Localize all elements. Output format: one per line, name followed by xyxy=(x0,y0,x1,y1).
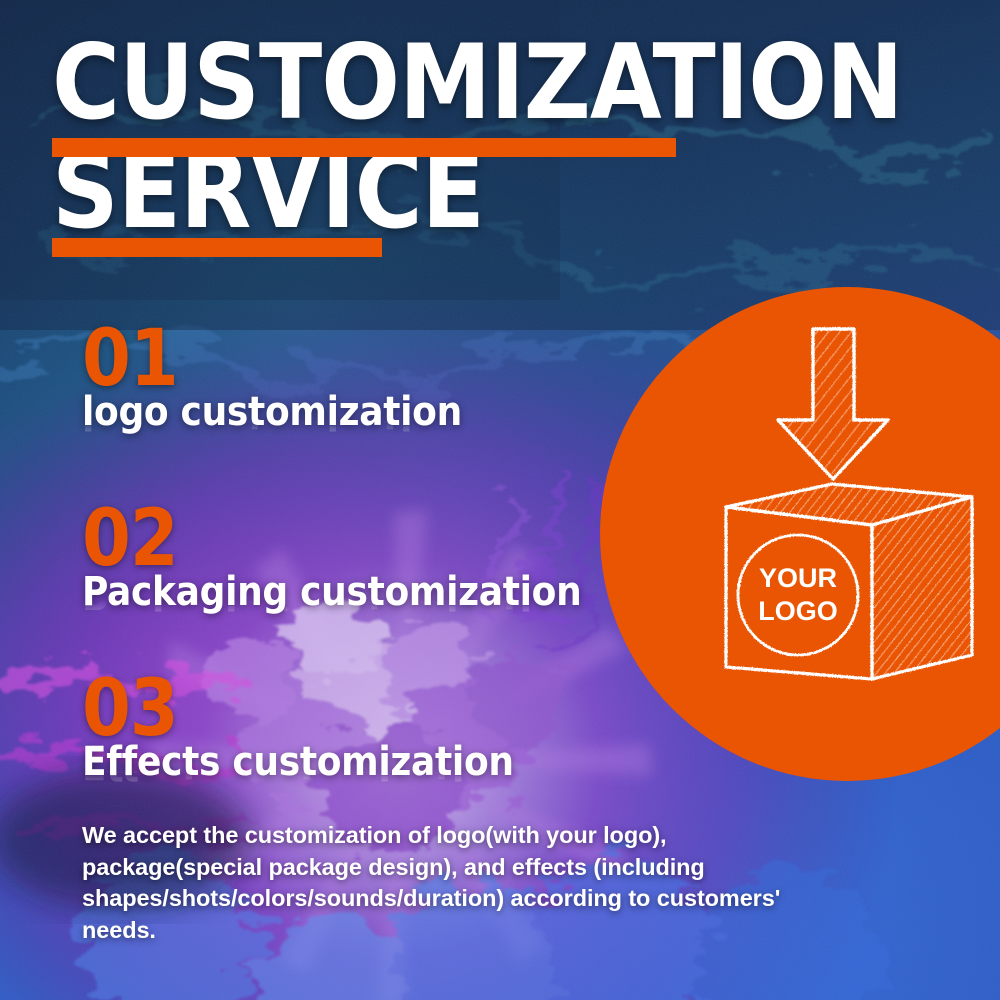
service-item-2: 02 Packaging customization Packaging cus… xyxy=(82,508,581,636)
service-item-2-number: 02 xyxy=(82,508,581,572)
service-item-2-label: Packaging customization xyxy=(82,572,581,614)
customization-badge: YOUR LOGO xyxy=(600,287,1000,781)
title-underline-bar-1 xyxy=(52,138,676,157)
description-paragraph: We accept the customization of logo(with… xyxy=(82,820,842,947)
box-right-face xyxy=(872,497,972,679)
title-line-2: SERVICE xyxy=(52,149,752,236)
customization-service-poster: CUSTOMIZATION SERVICE 01 logo customizat… xyxy=(0,0,1000,1000)
service-item-1-label: logo customization xyxy=(82,392,462,434)
service-item-1: 01 logo customization logo customization xyxy=(82,328,462,456)
service-item-3-label: Effects customization xyxy=(82,742,514,784)
service-item-3: 03 Effects customization Effects customi… xyxy=(82,678,514,806)
box-logo-line-1: YOUR xyxy=(759,563,837,593)
service-item-3-number: 03 xyxy=(82,678,514,742)
service-item-1-number: 01 xyxy=(82,328,462,392)
box-logo-line-2: LOGO xyxy=(758,596,838,626)
title-underline-bar-2 xyxy=(52,238,382,257)
title-line-1: CUSTOMIZATION xyxy=(52,40,752,127)
